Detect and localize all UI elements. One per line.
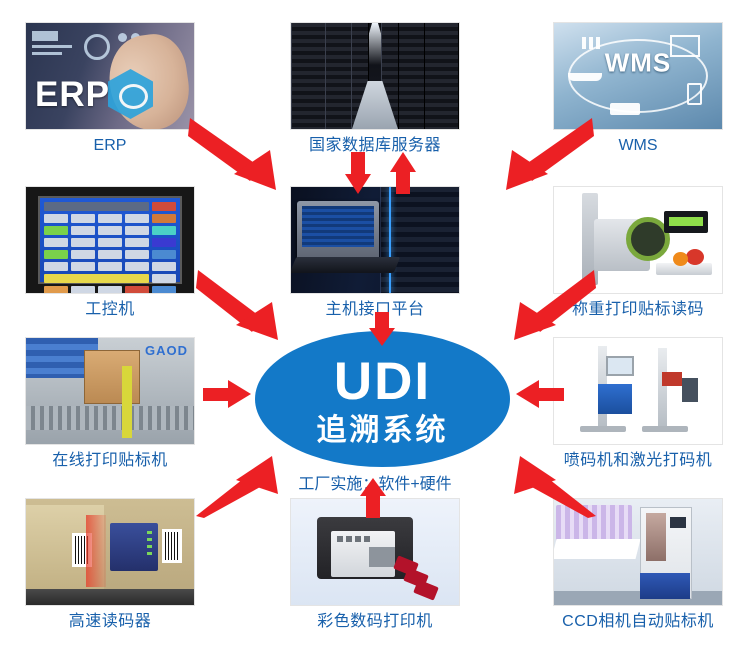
arrow-reader-to-udi xyxy=(196,450,306,520)
arrow-wms-to-host xyxy=(474,112,594,197)
node-label: CCD相机自动贴标机 xyxy=(562,613,714,631)
udi-system-diagram: ERP ERP 国家数据库服务器 xyxy=(0,0,750,650)
arrow-ipc-to-udi xyxy=(196,266,306,346)
gaodi-watermark: GAOD xyxy=(145,343,188,358)
node-label: 在线打印贴标机 xyxy=(52,452,168,470)
node-inline-label[interactable]: GAOD 在线打印贴标机 xyxy=(20,337,200,470)
arrow-ccd-to-udi xyxy=(486,450,596,520)
industrial-hmi-panel-photo xyxy=(25,186,195,294)
node-label: 国家数据库服务器 xyxy=(309,137,441,155)
udi-subtitle: 追溯系统 xyxy=(317,416,449,446)
arrow-colorprint-to-udi xyxy=(360,478,386,518)
arrow-db-to-host xyxy=(345,152,371,194)
arrow-inline-to-udi xyxy=(203,380,251,408)
barcode-scanner-photo xyxy=(25,498,195,606)
erp-wordmark: ERP xyxy=(35,75,110,115)
udi-title: UDI xyxy=(334,355,431,408)
node-label: WMS xyxy=(618,137,657,155)
udi-ellipse: UDI 追溯系统 xyxy=(255,331,510,467)
udi-center-node[interactable]: UDI 追溯系统 xyxy=(255,331,510,467)
arrow-coders-to-udi xyxy=(516,380,564,408)
node-erp[interactable]: ERP ERP xyxy=(20,22,200,155)
node-label: ERP xyxy=(94,137,127,155)
node-label: 工控机 xyxy=(85,301,135,319)
arrow-weigh-to-udi xyxy=(486,266,596,346)
erp-dashboard-photo: ERP xyxy=(25,22,195,130)
node-db-server[interactable]: 国家数据库服务器 xyxy=(285,22,465,155)
node-reader[interactable]: 高速读码器 xyxy=(20,498,200,631)
arrow-host-to-udi xyxy=(369,312,395,346)
node-ipc[interactable]: 工控机 xyxy=(20,186,200,319)
node-host-iface[interactable]: 主机接口平台 xyxy=(285,186,465,319)
wms-wordmark: WMS xyxy=(605,48,672,79)
arrow-erp-to-host xyxy=(188,112,308,197)
datacenter-corridor-photo xyxy=(290,22,460,130)
node-label: 高速读码器 xyxy=(69,613,152,631)
node-label: 彩色数码打印机 xyxy=(317,613,433,631)
conveyor-labeller-photo: GAOD xyxy=(25,337,195,445)
arrow-host-to-db xyxy=(390,152,416,194)
inkjet-laser-coder-photo xyxy=(553,337,723,445)
server-laptop-photo xyxy=(290,186,460,294)
